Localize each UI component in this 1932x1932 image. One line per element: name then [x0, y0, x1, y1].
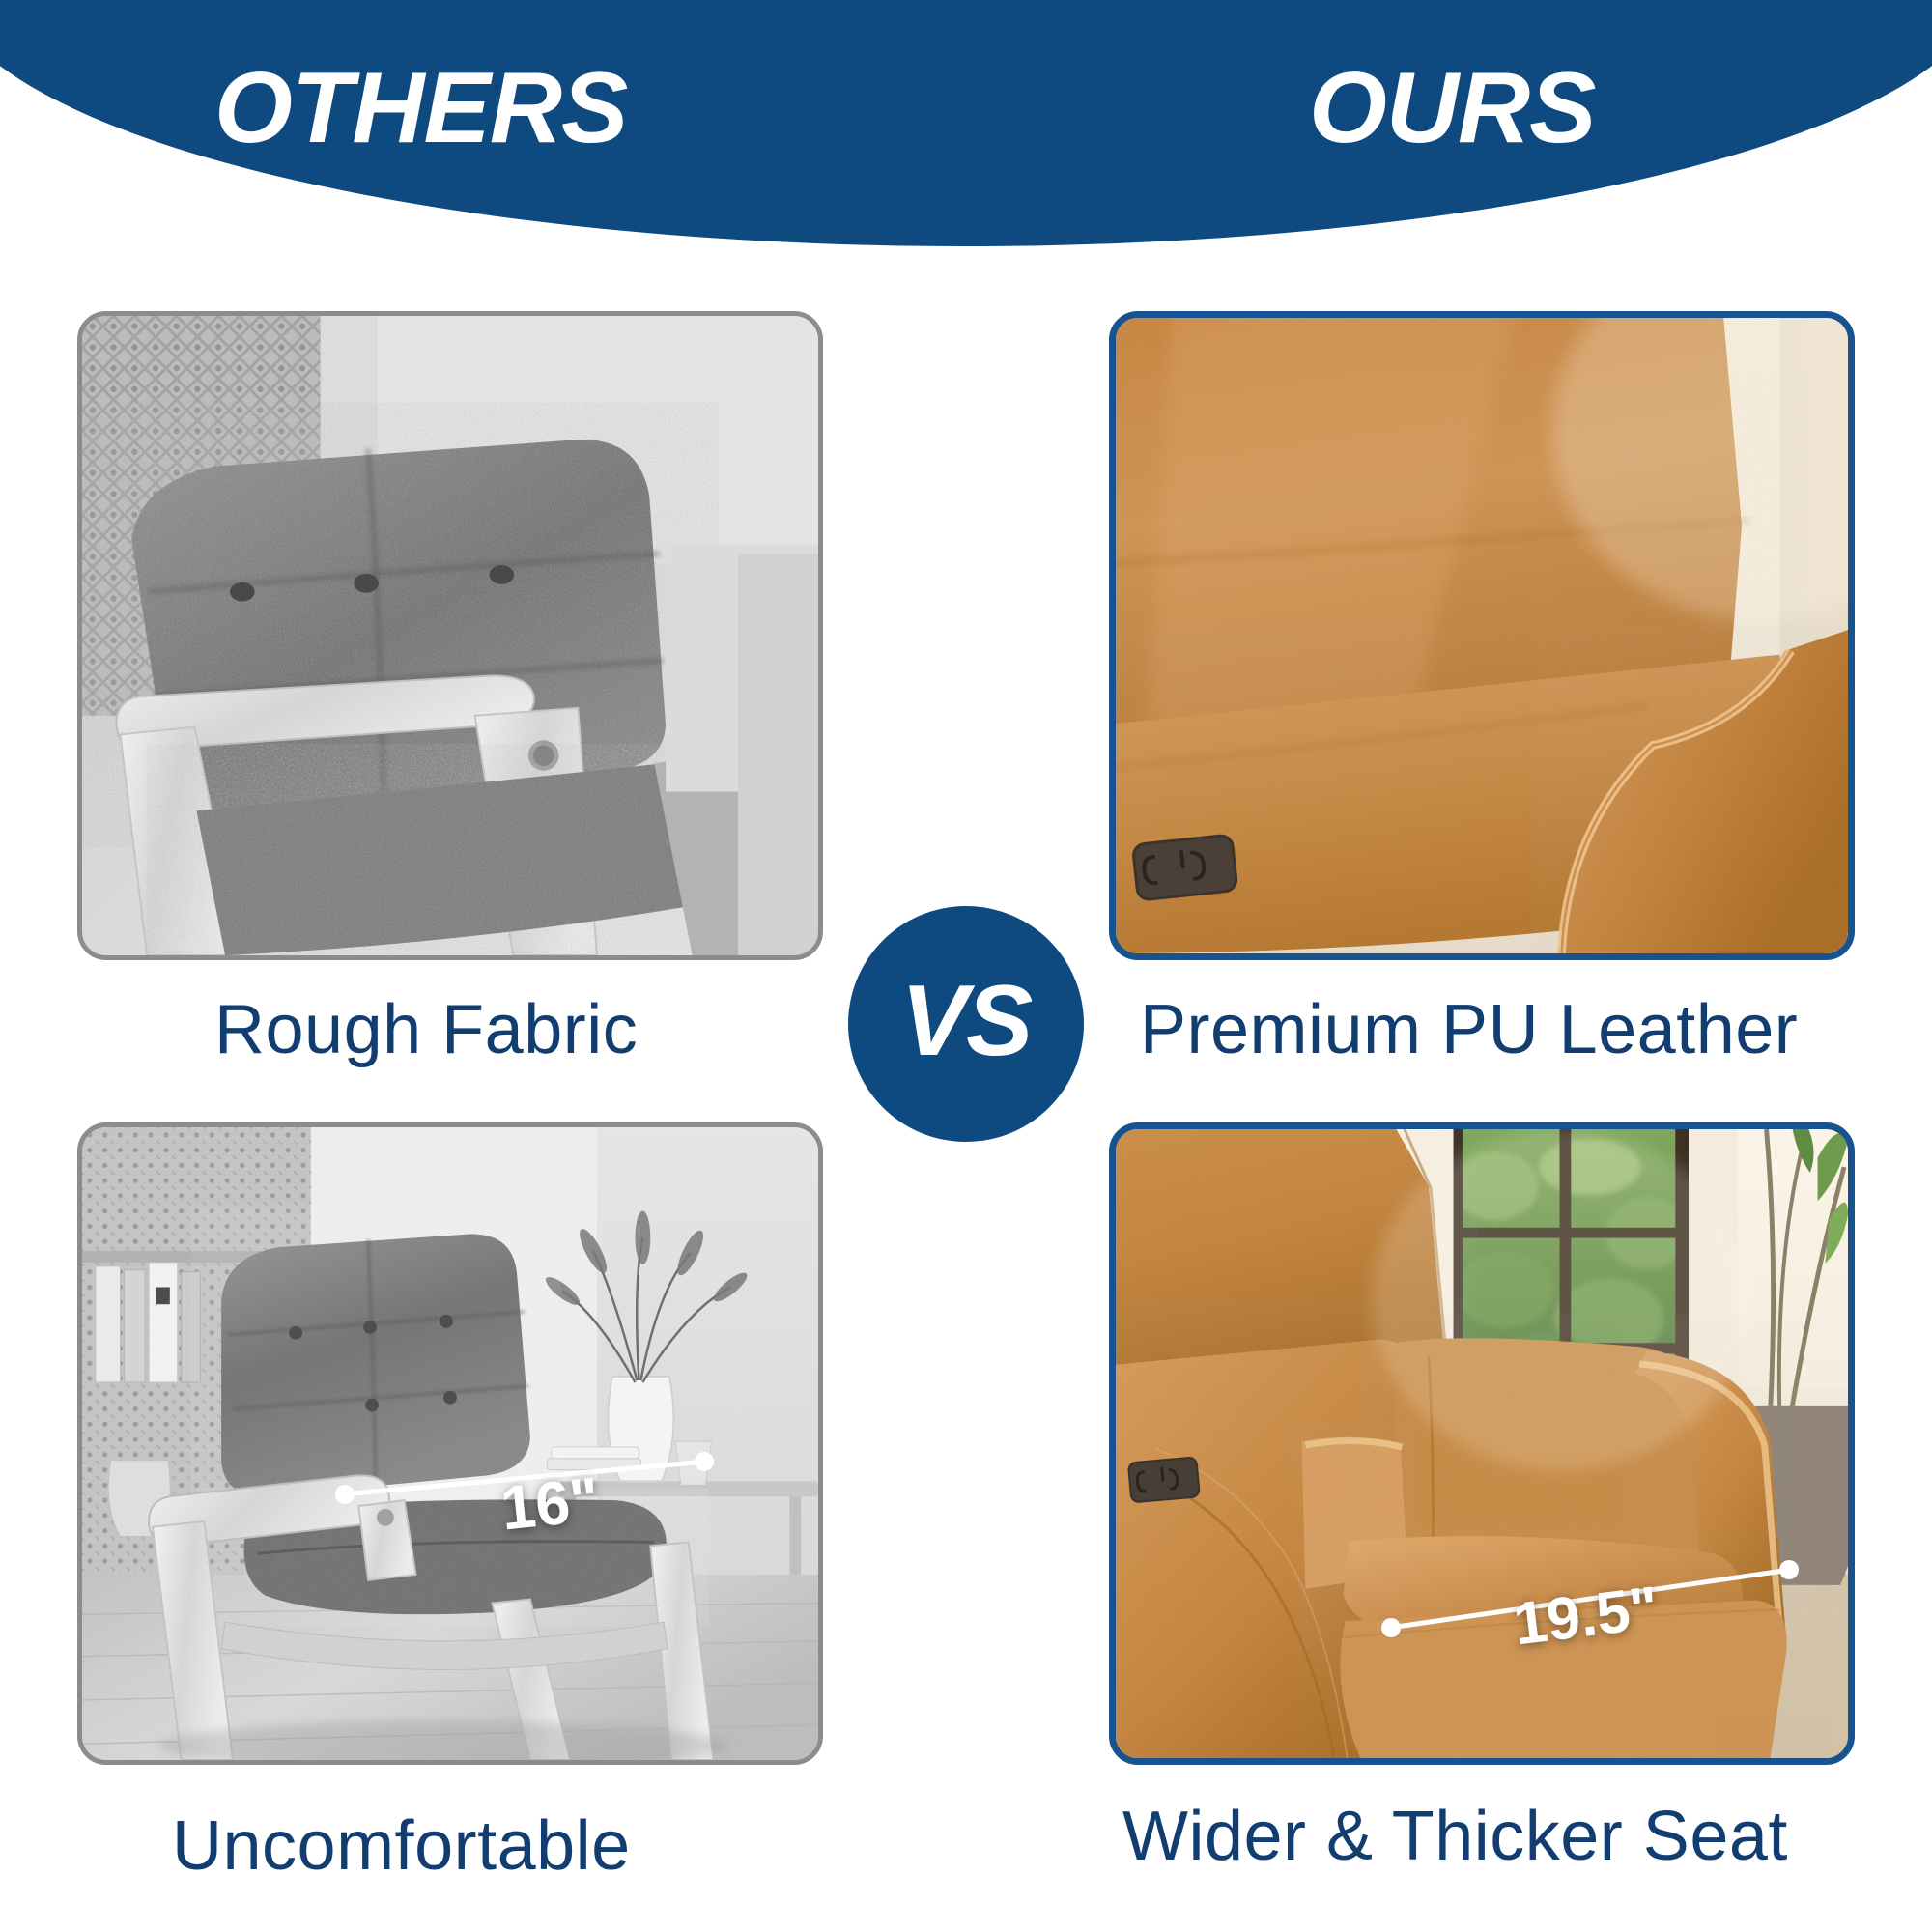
caption-uncomfortable: Uncomfortable — [172, 1806, 631, 1886]
image-ours-leather-room: 19.5" — [1109, 1122, 1855, 1765]
image-others-fabric-closeup — [77, 311, 823, 960]
photo-premium-pu-leather-closeup — [1116, 318, 1848, 953]
image-ours-leather-closeup — [1109, 311, 1855, 960]
photo-wider-thicker-seat-room — [1116, 1129, 1848, 1758]
photo-rough-fabric-closeup — [82, 316, 818, 955]
caption-premium-pu-leather: Premium PU Leather — [1140, 990, 1798, 1069]
image-others-fabric-room: 16" — [77, 1122, 823, 1765]
comparison-infographic: OTHERS OURS — [0, 0, 1932, 1932]
header-banner — [0, 0, 1932, 246]
photo-uncomfortable-armchair-room — [82, 1127, 818, 1760]
caption-wider-thicker-seat: Wider & Thicker Seat — [1122, 1797, 1788, 1876]
power-button-panel — [1131, 833, 1239, 901]
vs-badge: VS — [848, 906, 1084, 1142]
vs-label: VS — [901, 971, 1032, 1071]
power-button-panel-2 — [1127, 1456, 1201, 1503]
caption-rough-fabric: Rough Fabric — [214, 990, 638, 1069]
